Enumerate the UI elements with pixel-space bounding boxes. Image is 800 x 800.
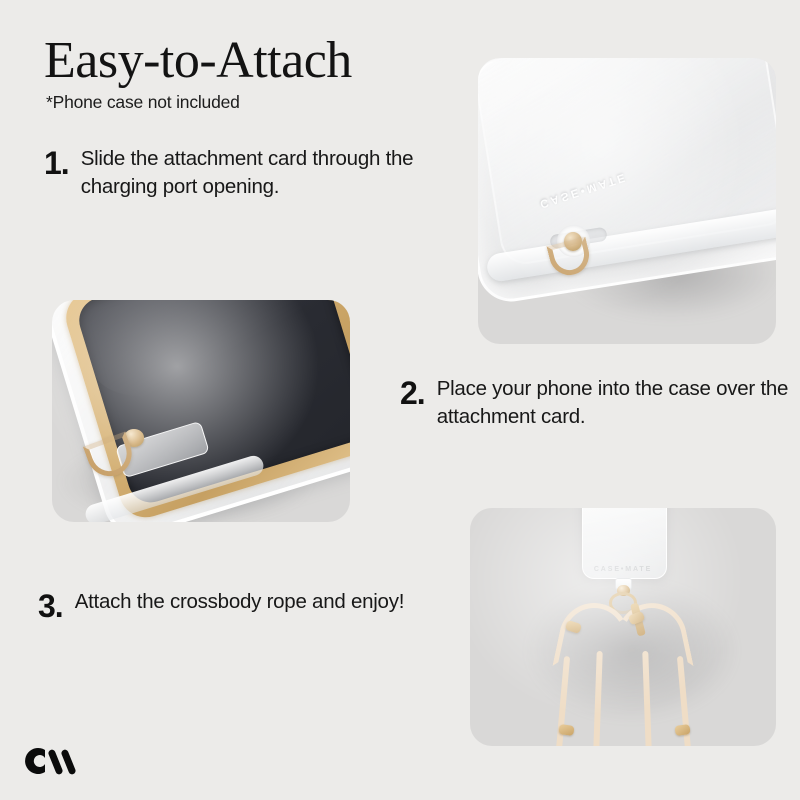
disclaimer-text: *Phone case not included xyxy=(46,92,240,113)
product-photo-case-dring: CASE•MATE xyxy=(478,58,776,344)
step-3: 3. Attach the crossbody rope and enjoy! xyxy=(38,588,418,622)
case-mate-logo-icon xyxy=(22,742,84,780)
photo-3-scene: CASE•MATE xyxy=(470,508,776,746)
step-1-number: 1. xyxy=(44,145,69,179)
product-photo-phone-in-case xyxy=(52,300,350,522)
step-3-text: Attach the crossbody rope and enjoy! xyxy=(75,588,404,616)
step-1-text: Slide the attachment card through the ch… xyxy=(81,145,474,200)
photo-1-scene: CASE•MATE xyxy=(478,58,776,344)
photo-3-light xyxy=(470,508,776,746)
step-3-number: 3. xyxy=(38,588,63,622)
product-photo-crossbody-rope: CASE•MATE xyxy=(470,508,776,746)
photo-1-light xyxy=(478,58,776,344)
step-2: 2. Place your phone into the case over t… xyxy=(400,375,795,430)
page-title: Easy-to-Attach xyxy=(44,34,352,87)
step-1: 1. Slide the attachment card through the… xyxy=(44,145,474,200)
step-2-number: 2. xyxy=(400,375,425,409)
instruction-graphic: Easy-to-Attach *Phone case not included … xyxy=(0,0,800,800)
step-2-text: Place your phone into the case over the … xyxy=(437,375,795,430)
photo-2-light xyxy=(52,300,350,522)
photo-2-scene xyxy=(52,300,350,522)
